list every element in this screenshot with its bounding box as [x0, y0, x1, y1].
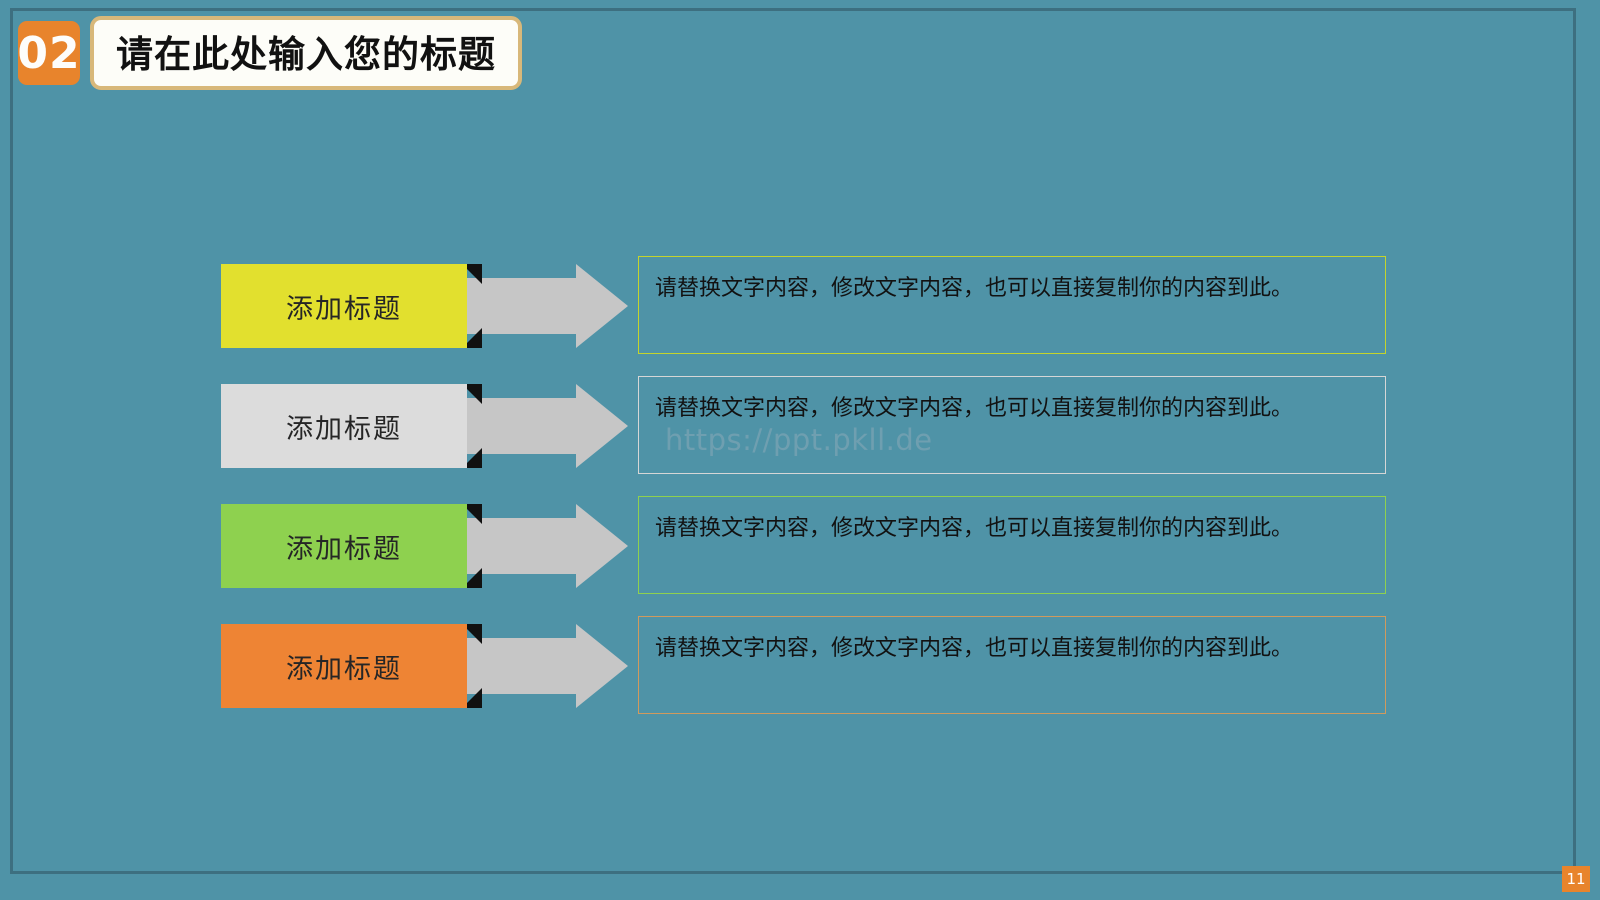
row-body-text: 请替换文字内容，修改文字内容，也可以直接复制你的内容到此。: [655, 508, 1369, 549]
slide-header: 02 请在此处输入您的标题: [18, 16, 522, 90]
arrow-icon: [458, 384, 628, 468]
row-label-block[interactable]: 添加标题: [221, 504, 467, 588]
row-label-block[interactable]: 添加标题: [221, 384, 467, 468]
row-label-text: 添加标题: [286, 407, 402, 446]
arrow-icon: [458, 504, 628, 588]
content-rows: 添加标题请替换文字内容，修改文字内容，也可以直接复制你的内容到此。添加标题请替换…: [0, 256, 1600, 736]
arrow-icon: [458, 624, 628, 708]
content-row: 添加标题请替换文字内容，修改文字内容，也可以直接复制你的内容到此。: [0, 496, 1600, 616]
row-label-block[interactable]: 添加标题: [221, 624, 467, 708]
row-text-box[interactable]: 请替换文字内容，修改文字内容，也可以直接复制你的内容到此。: [638, 256, 1386, 354]
row-text-box[interactable]: 请替换文字内容，修改文字内容，也可以直接复制你的内容到此。: [638, 496, 1386, 594]
page-title: 请在此处输入您的标题: [116, 24, 496, 78]
row-text-box[interactable]: 请替换文字内容，修改文字内容，也可以直接复制你的内容到此。: [638, 376, 1386, 474]
row-label-text: 添加标题: [286, 527, 402, 566]
slide-title-box[interactable]: 请在此处输入您的标题: [90, 16, 522, 90]
content-row: 添加标题请替换文字内容，修改文字内容，也可以直接复制你的内容到此。: [0, 376, 1600, 496]
row-body-text: 请替换文字内容，修改文字内容，也可以直接复制你的内容到此。: [655, 628, 1369, 669]
row-body-text: 请替换文字内容，修改文字内容，也可以直接复制你的内容到此。: [655, 388, 1369, 429]
row-text-box[interactable]: 请替换文字内容，修改文字内容，也可以直接复制你的内容到此。: [638, 616, 1386, 714]
content-row: 添加标题请替换文字内容，修改文字内容，也可以直接复制你的内容到此。: [0, 256, 1600, 376]
content-row: 添加标题请替换文字内容，修改文字内容，也可以直接复制你的内容到此。: [0, 616, 1600, 736]
slide-canvas: 02 请在此处输入您的标题 添加标题请替换文字内容，修改文字内容，也可以直接复制…: [0, 0, 1600, 900]
row-label-text: 添加标题: [286, 647, 402, 686]
arrow-icon: [458, 264, 628, 348]
row-label-text: 添加标题: [286, 287, 402, 326]
row-body-text: 请替换文字内容，修改文字内容，也可以直接复制你的内容到此。: [655, 268, 1369, 309]
row-label-block[interactable]: 添加标题: [221, 264, 467, 348]
section-number-badge: 02: [18, 21, 80, 85]
page-number-badge: 11: [1562, 866, 1590, 892]
